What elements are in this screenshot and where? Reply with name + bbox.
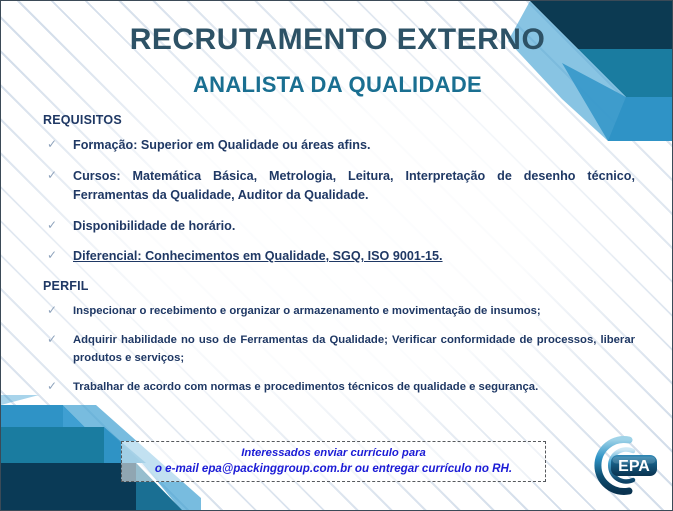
requisitos-list: ✓ Formação: Superior em Qualidade ou áre…	[43, 136, 635, 267]
list-item: ✓ Inspecionar o recebimento e organizar …	[43, 302, 635, 320]
list-item-label: Disponibilidade de horário.	[73, 217, 635, 237]
section-heading-perfil: PERFIL	[43, 279, 635, 293]
epa-logo-text: EPA	[618, 458, 650, 475]
section-heading-requisitos: REQUISITOS	[43, 113, 635, 127]
check-icon: ✓	[47, 167, 57, 183]
check-icon: ✓	[47, 331, 57, 347]
list-item: ✓ Disponibilidade de horário.	[43, 217, 635, 237]
list-item-label: Cursos: Matemática Básica, Metrologia, L…	[73, 167, 635, 206]
list-item: ✓ Cursos: Matemática Básica, Metrologia,…	[43, 167, 635, 206]
check-icon: ✓	[47, 302, 57, 318]
check-icon: ✓	[47, 217, 57, 233]
page-title: RECRUTAMENTO EXTERNO	[1, 23, 673, 57]
list-item: ✓ Trabalhar de acordo com normas e proce…	[43, 378, 635, 396]
list-item-label: Inspecionar o recebimento e organizar o …	[73, 302, 635, 320]
contact-line-1: Interessados enviar currículo para	[241, 445, 426, 461]
page-subtitle: ANALISTA DA QUALIDADE	[1, 72, 673, 98]
slide-content: RECRUTAMENTO EXTERNO ANALISTA DA QUALIDA…	[1, 1, 673, 511]
list-item: ✓ Diferencial: Conhecimentos em Qualidad…	[43, 247, 635, 267]
body-area: REQUISITOS ✓ Formação: Superior em Quali…	[43, 113, 635, 408]
list-item: ✓ Adquirir habilidade no uso de Ferramen…	[43, 331, 635, 368]
list-item-label: Trabalhar de acordo com normas e procedi…	[73, 378, 635, 396]
contact-line-2: o e-mail epa@packinggroup.com.br ou entr…	[155, 461, 512, 478]
list-item: ✓ Formação: Superior em Qualidade ou áre…	[43, 136, 635, 156]
check-icon: ✓	[47, 136, 57, 152]
list-item-label: Adquirir habilidade no uso de Ferramenta…	[73, 331, 635, 368]
epa-logo: EPA	[573, 434, 665, 497]
contact-callout-box: Interessados enviar currículo para o e-m…	[121, 441, 546, 482]
perfil-list: ✓ Inspecionar o recebimento e organizar …	[43, 302, 635, 397]
list-item-label: Diferencial: Conhecimentos em Qualidade,…	[73, 247, 635, 267]
slide-canvas: RECRUTAMENTO EXTERNO ANALISTA DA QUALIDA…	[0, 0, 673, 511]
list-item-label: Formação: Superior em Qualidade ou áreas…	[73, 136, 635, 156]
check-icon: ✓	[47, 378, 57, 394]
check-icon: ✓	[47, 247, 57, 263]
